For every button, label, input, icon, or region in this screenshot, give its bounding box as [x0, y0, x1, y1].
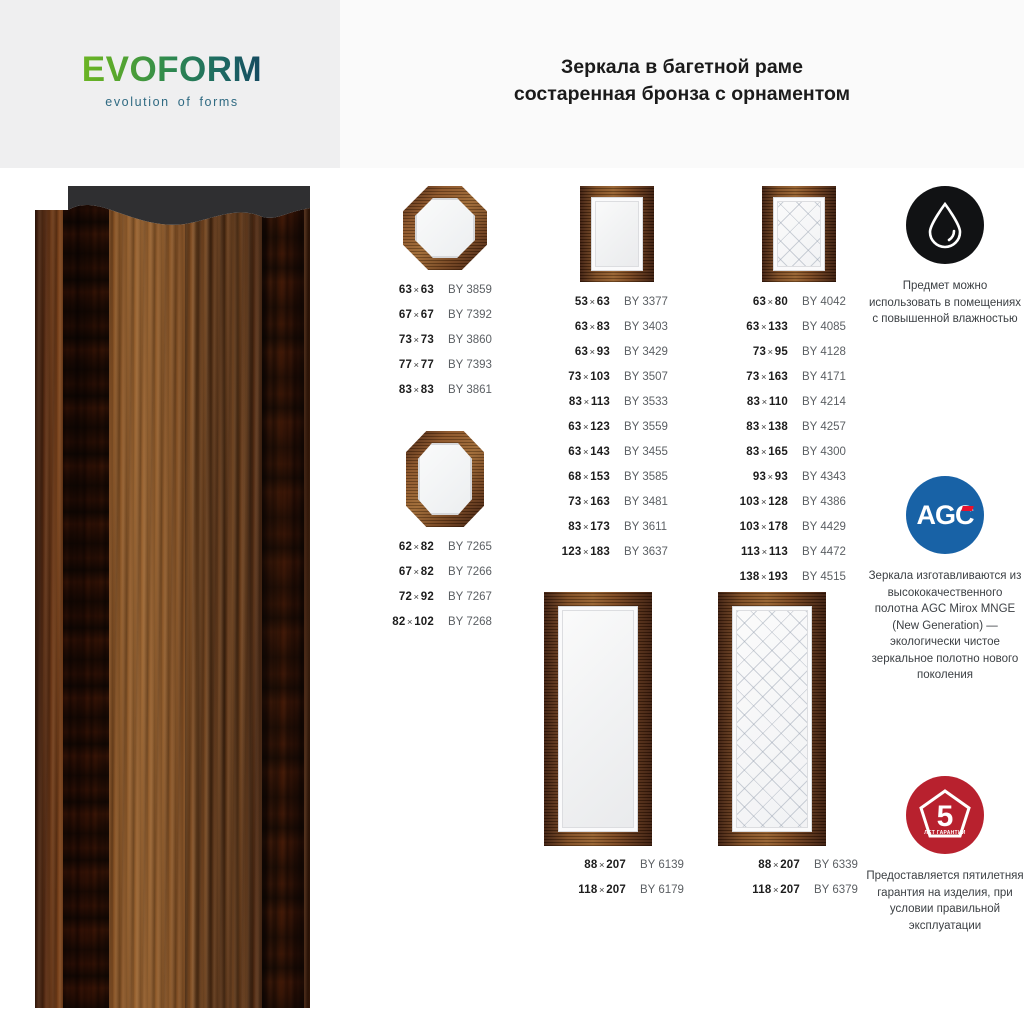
size-code: BY 4128	[788, 346, 846, 358]
size-code: BY 3861	[434, 384, 492, 396]
size-row[interactable]: 123×183 BY 3637	[528, 546, 706, 571]
size-code: BY 7268	[434, 616, 492, 628]
size-dimensions: 103×128	[706, 496, 788, 508]
size-code: BY 3533	[610, 396, 668, 408]
size-dimensions: 118×207	[544, 884, 626, 896]
size-code: BY 4214	[788, 396, 846, 408]
size-row[interactable]: 93×93 BY 4343	[706, 471, 891, 496]
size-list-octagon-tall: 62×82 BY 7265 67×82 BY 7266 72×92 BY 726…	[360, 541, 530, 641]
size-row[interactable]: 118×207 BY 6379	[718, 884, 858, 909]
size-code: BY 6339	[800, 859, 858, 871]
size-code: BY 3559	[610, 421, 668, 433]
size-dimensions: 123×183	[528, 546, 610, 558]
octagon-tall-thumb-row	[360, 431, 530, 527]
big-mirror-plain[interactable]	[544, 592, 652, 846]
agc-badge-circle: AGC	[906, 476, 984, 554]
size-dimensions: 118×207	[718, 884, 800, 896]
size-list-octagon-square: 63×63 BY 3859 67×67 BY 7392 73×73 BY 386…	[360, 284, 530, 409]
agc-badge-caption: Зеркала изготавливаются из высококачеств…	[866, 568, 1024, 684]
size-code: BY 7393	[434, 359, 492, 371]
size-row[interactable]: 83×113 BY 3533	[528, 396, 706, 421]
logo-wordmark: EVOFORM	[62, 52, 282, 87]
mirror-glass	[558, 606, 638, 832]
mirror-glass-lattice	[732, 606, 812, 832]
size-row[interactable]: 83×110 BY 4214	[706, 396, 891, 421]
mirror-octagon-square[interactable]	[403, 186, 487, 270]
size-dimensions: 63×143	[528, 446, 610, 458]
size-dimensions: 67×67	[360, 309, 434, 321]
size-list-rect-plain: 53×63 BY 3377 63×83 BY 3403 63×93 BY 342…	[528, 296, 706, 571]
size-list-big-plain: 88×207 BY 6139 118×207 BY 6179	[544, 859, 684, 909]
octagon-thumb-row	[360, 186, 530, 270]
page-title-line2: состаренная бронза с орнаментом	[340, 81, 1024, 108]
size-dimensions: 73×95	[706, 346, 788, 358]
size-code: BY 4042	[788, 296, 846, 308]
size-row[interactable]: 83×165 BY 4300	[706, 446, 891, 471]
size-code: BY 3611	[610, 521, 667, 533]
size-code: BY 6179	[626, 884, 684, 896]
size-dimensions: 73×163	[706, 371, 788, 383]
size-row[interactable]: 83×83 BY 3861	[360, 384, 530, 409]
size-dimensions: 68×153	[528, 471, 610, 483]
size-row[interactable]: 72×92 BY 7267	[360, 591, 530, 616]
agc-label: AGC	[917, 500, 974, 530]
mirror-rect-lattice[interactable]	[762, 186, 836, 282]
agc-badge: AGC Зеркала изготавливаются из высококач…	[866, 476, 1024, 684]
size-dimensions: 73×163	[528, 496, 610, 508]
size-dimensions: 63×133	[706, 321, 788, 333]
size-row[interactable]: 82×102 BY 7268	[360, 616, 530, 641]
size-row[interactable]: 53×63 BY 3377	[528, 296, 706, 321]
size-row[interactable]: 103×178 BY 4429	[706, 521, 891, 546]
size-row[interactable]: 73×103 BY 3507	[528, 371, 706, 396]
size-dimensions: 73×103	[528, 371, 610, 383]
size-dimensions: 103×178	[706, 521, 788, 533]
moisture-badge-circle	[906, 186, 984, 264]
size-code: BY 7265	[434, 541, 492, 553]
size-dimensions: 83×165	[706, 446, 788, 458]
size-dimensions: 73×73	[360, 334, 434, 346]
size-dimensions: 63×93	[528, 346, 610, 358]
size-row[interactable]: 63×83 BY 3403	[528, 321, 706, 346]
mirror-glass	[418, 443, 472, 515]
size-row[interactable]: 77×77 BY 7393	[360, 359, 530, 384]
svg-text:5: 5	[937, 800, 954, 833]
moisture-badge: Предмет можно использовать в помещениях …	[866, 186, 1024, 328]
warranty-badge-caption: Предоставляется пятилетняя гарантия на и…	[866, 868, 1024, 934]
size-row[interactable]: 63×123 BY 3559	[528, 421, 706, 446]
size-row[interactable]: 63×143 BY 3455	[528, 446, 706, 471]
mirror-rect-plain[interactable]	[580, 186, 654, 282]
size-dimensions: 83×138	[706, 421, 788, 433]
size-row[interactable]: 63×93 BY 3429	[528, 346, 706, 371]
frame-ornament-left	[63, 186, 109, 1008]
size-code: BY 6139	[626, 859, 684, 871]
column-octagon: 63×63 BY 3859 67×67 BY 7392 73×73 BY 386…	[360, 186, 530, 641]
warranty-badge-circle: 5 ЛЕТ ГАРАНТИИ	[906, 776, 984, 854]
rect-plain-thumb-row	[528, 186, 706, 282]
size-code: BY 3455	[610, 446, 668, 458]
size-row[interactable]: 73×163 BY 4171	[706, 371, 891, 396]
brand-logo: EVOFORM evolution of forms	[62, 52, 282, 109]
size-code: BY 4171	[788, 371, 846, 383]
size-dimensions: 83×83	[360, 384, 434, 396]
size-dimensions: 88×207	[544, 859, 626, 871]
size-row[interactable]: 67×82 BY 7266	[360, 566, 530, 591]
size-code: BY 4257	[788, 421, 846, 433]
size-row[interactable]: 88×207 BY 6339	[718, 859, 858, 884]
size-row[interactable]: 62×82 BY 7265	[360, 541, 530, 566]
logo-panel: EVOFORM evolution of forms	[0, 0, 340, 168]
size-dimensions: 88×207	[718, 859, 800, 871]
frame-sample-photo	[35, 186, 310, 1008]
size-row[interactable]: 68×153 BY 3585	[528, 471, 706, 496]
size-list-rect-lattice: 63×80 BY 4042 63×133 BY 4085 73×95 BY 41…	[706, 296, 891, 596]
size-code: BY 4386	[788, 496, 846, 508]
size-code: BY 3507	[610, 371, 668, 383]
mirror-glass-lattice	[773, 197, 825, 271]
big-mirror-lattice-block: 88×207 BY 6339 118×207 BY 6379	[718, 592, 858, 909]
size-list-big-lattice: 88×207 BY 6339 118×207 BY 6379	[718, 859, 858, 909]
rect-lattice-thumb-row	[706, 186, 891, 282]
mirror-glass	[415, 198, 475, 258]
size-row[interactable]: 118×207 BY 6179	[544, 884, 684, 909]
size-dimensions: 63×83	[528, 321, 610, 333]
column-rectangle-plain: 53×63 BY 3377 63×83 BY 3403 63×93 BY 342…	[528, 186, 706, 571]
size-code: BY 3481	[610, 496, 668, 508]
size-code: BY 3403	[610, 321, 668, 333]
agc-logo-icon: AGC	[917, 500, 974, 531]
size-dimensions: 93×93	[706, 471, 788, 483]
size-code: BY 4300	[788, 446, 846, 458]
size-dimensions: 63×80	[706, 296, 788, 308]
size-code: BY 7266	[434, 566, 492, 578]
mirror-octagon-tall[interactable]	[406, 431, 484, 527]
frame-ornament-right	[262, 186, 304, 1008]
water-drop-icon	[923, 200, 967, 250]
page-header: EVOFORM evolution of forms Зеркала в баг…	[0, 0, 1024, 168]
size-dimensions: 138×193	[706, 571, 788, 583]
agc-red-accent	[961, 506, 974, 511]
size-row[interactable]: 63×63 BY 3859	[360, 284, 530, 309]
size-dimensions: 62×82	[360, 541, 434, 553]
size-dimensions: 83×110	[706, 396, 788, 408]
size-row[interactable]: 103×128 BY 4386	[706, 496, 891, 521]
size-dimensions: 82×102	[360, 616, 434, 628]
size-dimensions: 63×123	[528, 421, 610, 433]
logo-tagline: evolution of forms	[62, 95, 282, 109]
catalog-page: EVOFORM evolution of forms Зеркала в баг…	[0, 0, 1024, 1024]
size-code: BY 3859	[434, 284, 492, 296]
size-dimensions: 83×113	[528, 396, 610, 408]
size-row[interactable]: 73×95 BY 4128	[706, 346, 891, 371]
size-row[interactable]: 83×173 BY 3611	[528, 521, 706, 546]
mirror-glass	[591, 197, 643, 271]
five-year-warranty-icon: 5 ЛЕТ ГАРАНТИИ	[914, 784, 976, 846]
moisture-badge-caption: Предмет можно использовать в помещениях …	[866, 278, 1024, 328]
size-row[interactable]: 73×163 BY 3481	[528, 496, 706, 521]
size-code: BY 4429	[788, 521, 846, 533]
size-code: BY 4472	[788, 546, 846, 558]
size-code: BY 4515	[788, 571, 846, 583]
size-dimensions: 53×63	[528, 296, 610, 308]
size-code: BY 4343	[788, 471, 846, 483]
size-row[interactable]: 88×207 BY 6139	[544, 859, 684, 884]
size-code: BY 7267	[434, 591, 492, 603]
frame-top-cut-mask	[35, 186, 310, 246]
size-row[interactable]: 63×80 BY 4042	[706, 296, 891, 321]
size-code: BY 3377	[610, 296, 668, 308]
size-row[interactable]: 113×113 BY 4472	[706, 546, 891, 571]
size-dimensions: 113×113	[706, 546, 788, 558]
warranty-badge: 5 ЛЕТ ГАРАНТИИ Предоставляется пятилетня…	[866, 776, 1024, 934]
size-row[interactable]: 73×73 BY 3860	[360, 334, 530, 359]
column-rectangle-lattice: 63×80 BY 4042 63×133 BY 4085 73×95 BY 41…	[706, 186, 891, 596]
size-row[interactable]: 67×67 BY 7392	[360, 309, 530, 334]
size-dimensions: 63×63	[360, 284, 434, 296]
big-mirror-plain-block: 88×207 BY 6139 118×207 BY 6179	[544, 592, 684, 909]
size-row[interactable]: 83×138 BY 4257	[706, 421, 891, 446]
page-title: Зеркала в багетной раме состаренная брон…	[340, 54, 1024, 108]
size-row[interactable]: 63×133 BY 4085	[706, 321, 891, 346]
page-title-line1: Зеркала в багетной раме	[561, 56, 803, 78]
size-code: BY 6379	[800, 884, 858, 896]
size-code: BY 3429	[610, 346, 668, 358]
size-dimensions: 67×82	[360, 566, 434, 578]
size-code: BY 3585	[610, 471, 668, 483]
size-code: BY 4085	[788, 321, 846, 333]
size-dimensions: 83×173	[528, 521, 610, 533]
svg-text:ЛЕТ ГАРАНТИИ: ЛЕТ ГАРАНТИИ	[924, 830, 965, 836]
big-mirror-lattice[interactable]	[718, 592, 826, 846]
size-dimensions: 77×77	[360, 359, 434, 371]
size-dimensions: 72×92	[360, 591, 434, 603]
size-code: BY 7392	[434, 309, 492, 321]
size-code: BY 3637	[610, 546, 668, 558]
size-code: BY 3860	[434, 334, 492, 346]
